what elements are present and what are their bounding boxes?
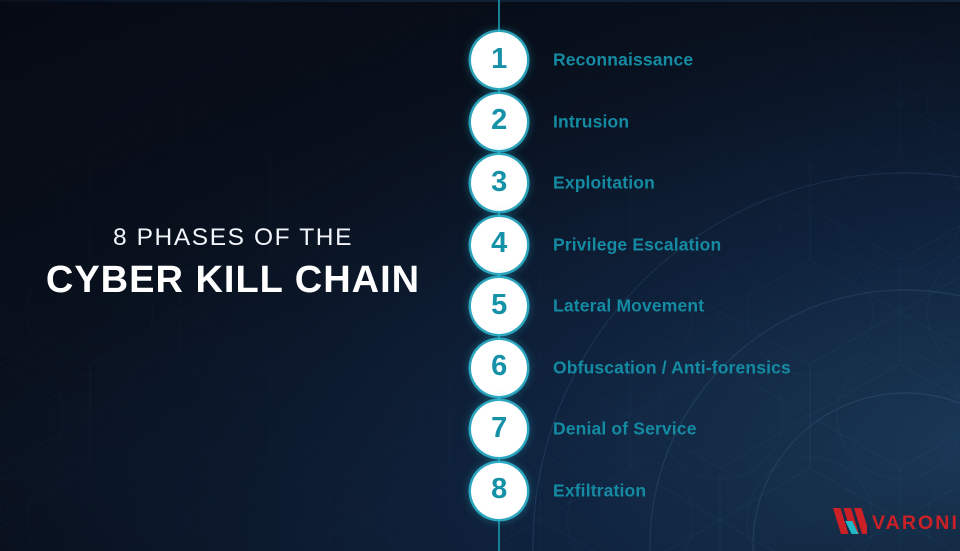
phase-number: 2 xyxy=(491,106,507,135)
phase-item[interactable]: 1Reconnaissance xyxy=(0,32,960,88)
infographic-canvas: 8 PHASES OF THE CYBER KILL CHAIN 1Reconn… xyxy=(0,0,960,551)
varonis-chevron-mark-icon xyxy=(833,508,867,539)
page-title: 8 PHASES OF THE CYBER KILL CHAIN xyxy=(0,226,466,299)
phase-item[interactable]: 3Exploitation xyxy=(0,155,960,211)
phase-number: 4 xyxy=(491,229,507,258)
phase-number: 8 xyxy=(491,475,507,504)
phase-item[interactable]: 6Obfuscation / Anti-forensics xyxy=(0,340,960,396)
phase-label: Lateral Movement xyxy=(553,296,704,317)
phase-number-badge: 3 xyxy=(471,155,527,211)
phase-number-badge: 1 xyxy=(471,32,527,88)
phase-number-badge: 8 xyxy=(471,463,527,519)
phase-label: Exploitation xyxy=(553,173,655,194)
phase-number: 1 xyxy=(491,45,507,74)
phase-label: Reconnaissance xyxy=(553,50,693,71)
varonis-wordmark: VARONIS xyxy=(872,514,960,534)
title-kicker: 8 PHASES OF THE xyxy=(0,226,466,251)
phase-label: Intrusion xyxy=(553,111,629,132)
phase-label: Exfiltration xyxy=(553,480,646,501)
phase-number-badge: 5 xyxy=(471,278,527,334)
phase-number-badge: 7 xyxy=(471,401,527,457)
varonis-logo[interactable]: VARONIS xyxy=(833,506,951,540)
phase-number-badge: 4 xyxy=(471,217,527,273)
phase-item[interactable]: 8Exfiltration xyxy=(0,463,960,519)
phase-label: Denial of Service xyxy=(553,419,697,440)
phase-number: 6 xyxy=(491,352,507,381)
phase-number-badge: 2 xyxy=(471,94,527,150)
phase-item[interactable]: 7Denial of Service xyxy=(0,401,960,457)
phase-number: 7 xyxy=(491,414,507,443)
phase-label: Privilege Escalation xyxy=(553,234,721,255)
title-main: CYBER KILL CHAIN xyxy=(0,261,466,299)
phase-number-badge: 6 xyxy=(471,340,527,396)
phase-number: 3 xyxy=(491,168,507,197)
phase-number: 5 xyxy=(491,291,507,320)
phase-label: Obfuscation / Anti-forensics xyxy=(553,357,791,378)
phase-item[interactable]: 2Intrusion xyxy=(0,94,960,150)
